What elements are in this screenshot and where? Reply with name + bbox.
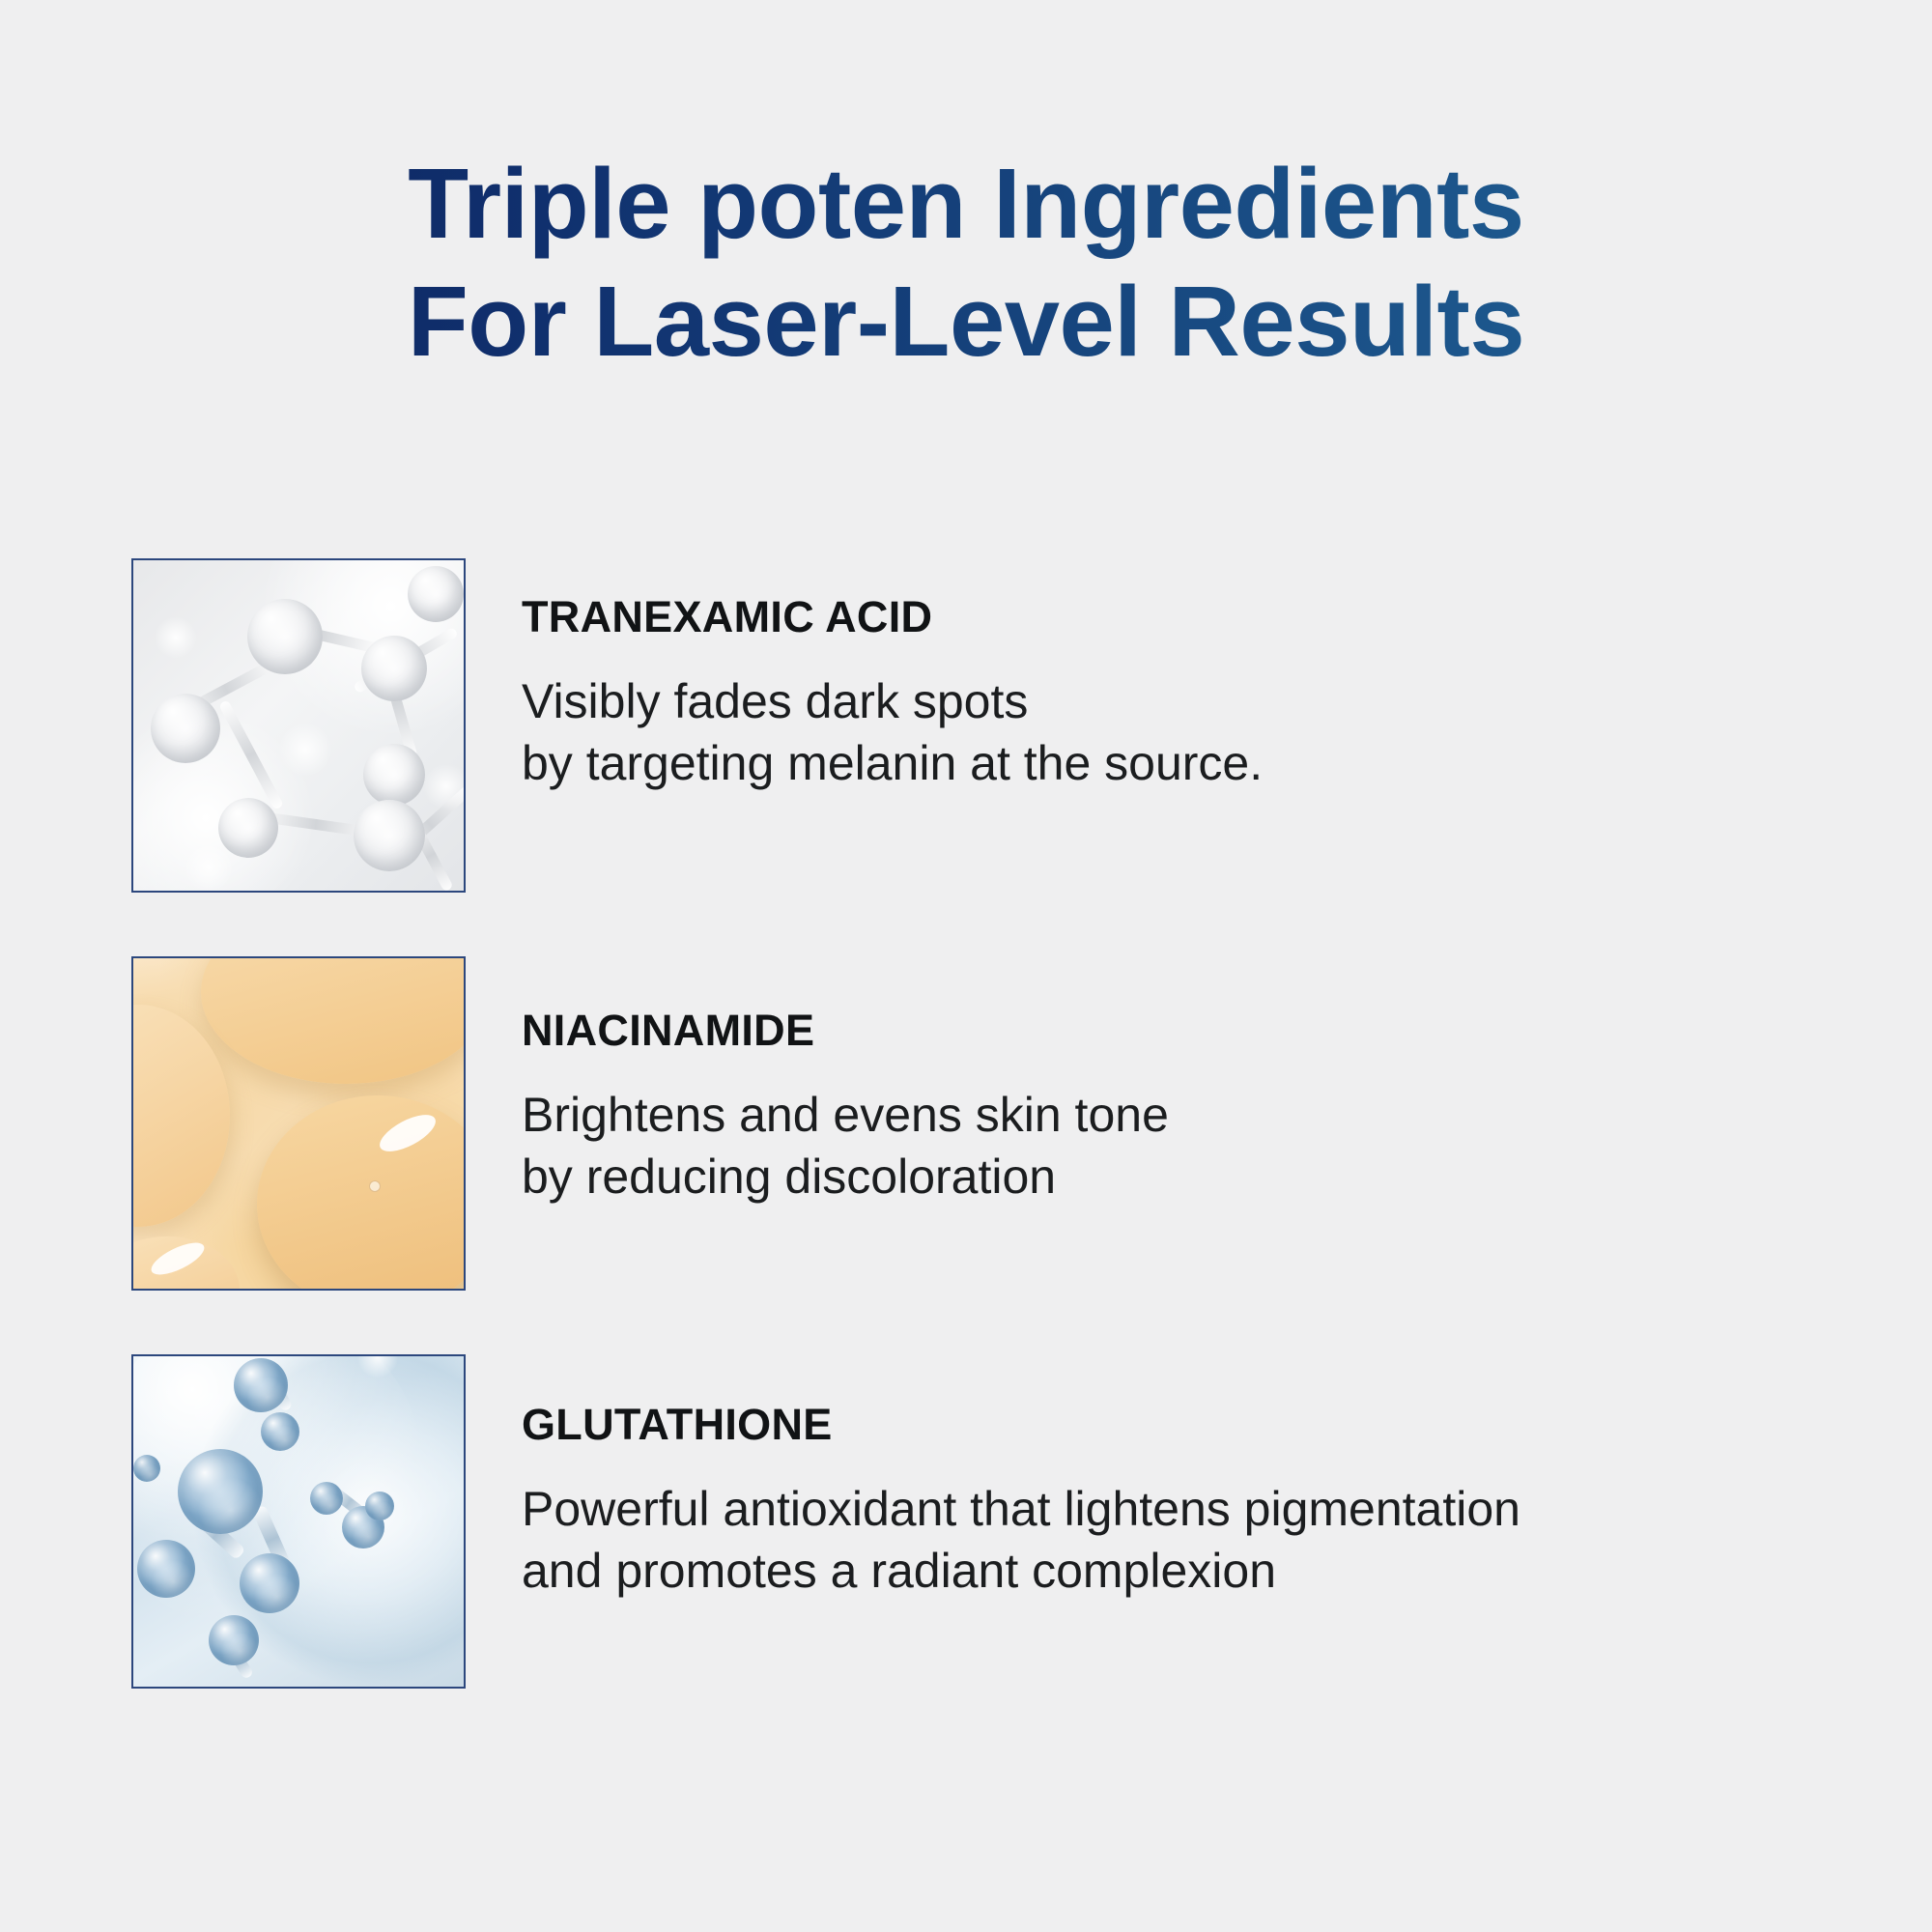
ingredient-description-line-2: by reducing discoloration <box>522 1146 1855 1207</box>
ingredient-image-niacinamide <box>131 956 466 1291</box>
ingredient-description-line-1: Powerful antioxidant that lightens pigme… <box>522 1478 1855 1540</box>
page-title-line-2: For Laser-Level Results <box>0 263 1932 381</box>
ingredient-image-tranexamic-acid <box>131 558 466 893</box>
ingredient-description-line-1: Visibly fades dark spots <box>522 670 1855 732</box>
ingredient-description-line-1: Brightens and evens skin tone <box>522 1084 1855 1146</box>
ingredient-copy-glutathione: GLUTATHIONE Powerful antioxidant that li… <box>522 1401 1855 1602</box>
ingredient-row-tranexamic-acid: TRANEXAMIC ACID Visibly fades dark spots… <box>0 558 1932 893</box>
ingredient-name: GLUTATHIONE <box>522 1401 1855 1449</box>
ingredient-infographic-page: Triple poten Ingredients For Laser-Level… <box>0 0 1932 1932</box>
amber-serum-droplets-icon <box>133 958 464 1289</box>
ingredient-copy-niacinamide: NIACINAMIDE Brightens and evens skin ton… <box>522 1007 1855 1207</box>
ingredient-name: TRANEXAMIC ACID <box>522 593 1855 641</box>
ingredient-description: Powerful antioxidant that lightens pigme… <box>522 1478 1855 1602</box>
ingredient-list: TRANEXAMIC ACID Visibly fades dark spots… <box>0 558 1932 1752</box>
ingredient-description-line-2: by targeting melanin at the source. <box>522 732 1855 794</box>
clear-molecule-lattice-icon <box>133 560 464 891</box>
ingredient-image-glutathione <box>131 1354 466 1689</box>
page-title: Triple poten Ingredients For Laser-Level… <box>0 145 1932 380</box>
ingredient-description: Brightens and evens skin tone by reducin… <box>522 1084 1855 1207</box>
ingredient-row-niacinamide: NIACINAMIDE Brightens and evens skin ton… <box>0 956 1932 1291</box>
ingredient-description-line-2: and promotes a radiant complexion <box>522 1540 1855 1602</box>
ingredient-row-glutathione: GLUTATHIONE Powerful antioxidant that li… <box>0 1354 1932 1689</box>
blue-molecules-in-water-droplet-icon <box>133 1356 464 1687</box>
page-title-line-1: Triple poten Ingredients <box>0 145 1932 263</box>
ingredient-copy-tranexamic-acid: TRANEXAMIC ACID Visibly fades dark spots… <box>522 593 1855 794</box>
ingredient-description: Visibly fades dark spots by targeting me… <box>522 670 1855 794</box>
ingredient-name: NIACINAMIDE <box>522 1007 1855 1055</box>
